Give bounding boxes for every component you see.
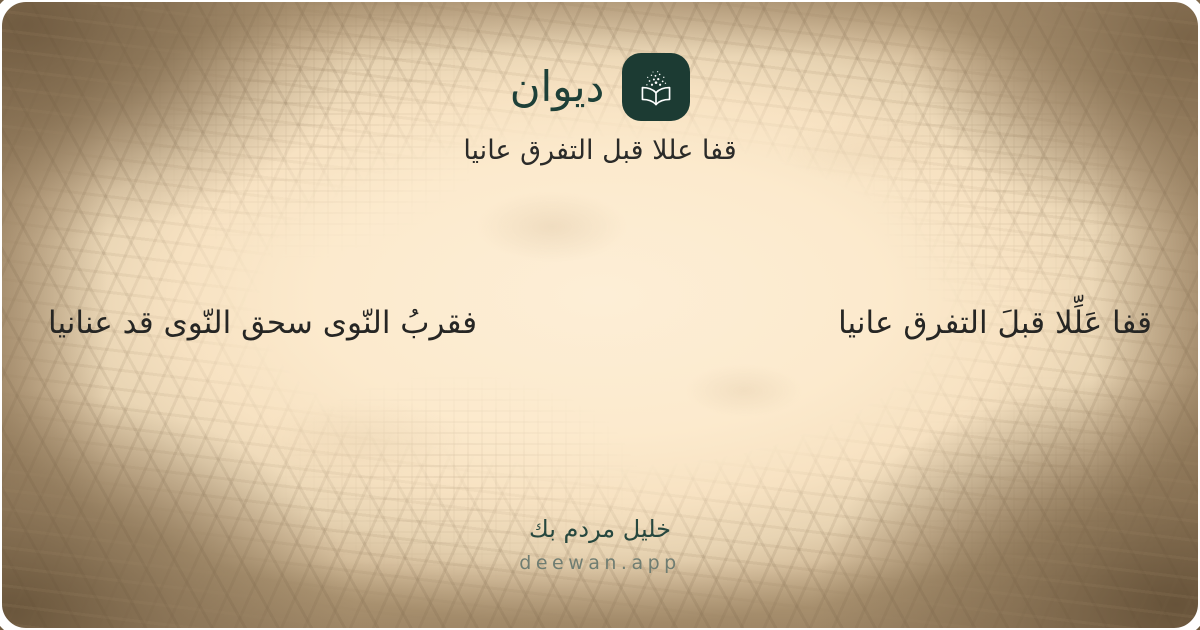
- card-content: ديوان قفا عللا قبل التفرق عانيا قفا عَلِ…: [0, 0, 1200, 630]
- brand-name: ديوان: [510, 66, 605, 108]
- verse-hemistich-first: قفا عَلِّلا قبلَ التفرق عانيا: [600, 300, 1200, 347]
- poem-card: ديوان قفا عللا قبل التفرق عانيا قفا عَلِ…: [0, 0, 1200, 630]
- verse-row: قفا عَلِّلا قبلَ التفرق عانيا فقربُ النّ…: [0, 300, 1200, 347]
- app-logo-tile[interactable]: [622, 53, 690, 121]
- verse-list: قفا عَلِّلا قبلَ التفرق عانيا فقربُ النّ…: [0, 300, 1200, 347]
- card-footer: خليل مردم بك deewan.app: [0, 514, 1200, 574]
- verse-hemistich-second: فقربُ النّوى سحق النّوى قد عنانيا: [0, 300, 600, 347]
- open-book-sparkles-icon: [635, 66, 677, 108]
- brand-lockup[interactable]: ديوان: [510, 53, 691, 121]
- poet-name: خليل مردم بك: [0, 514, 1200, 545]
- page-title: قفا عللا قبل التفرق عانيا: [463, 135, 736, 166]
- site-url[interactable]: deewan.app: [0, 552, 1200, 574]
